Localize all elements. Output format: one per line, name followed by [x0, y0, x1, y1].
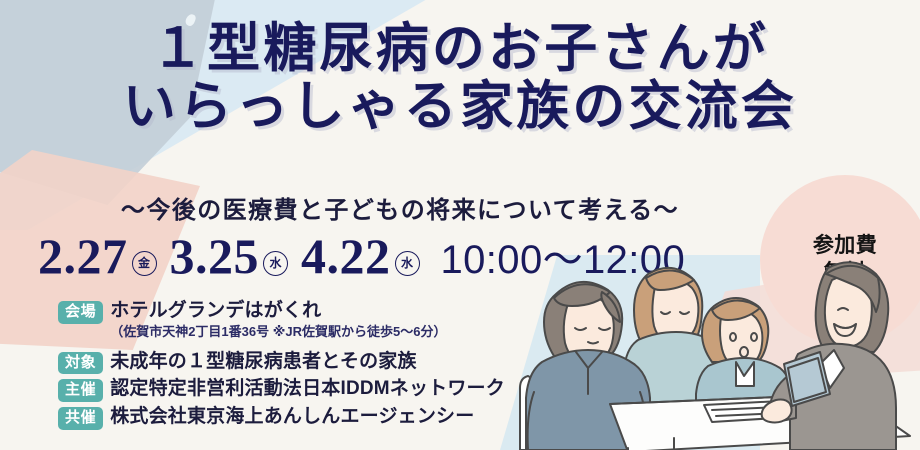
flyer-banner: １型糖尿病のお子さんが いらっしゃる家族の交流会 〜今後の医療費と子どもの将来に… [0, 0, 920, 450]
venue-block: ホテルグランデはがくれ （佐賀市天神2丁目1番36号 ※JR佐賀駅から徒歩5〜6… [110, 299, 446, 341]
cohost-text: 株式会社東京海上あんしんエージェンシー [110, 405, 474, 429]
tag-target: 対象 [58, 352, 103, 375]
date-1: 2.27 [38, 231, 128, 281]
title-line-2: いらっしゃる家族の交流会 [0, 80, 920, 134]
tag-organizer: 主催 [58, 379, 103, 402]
tag-cohost: 共催 [58, 407, 103, 430]
date-3: 4.22 [301, 231, 391, 281]
date-2-dow: 水 [263, 251, 288, 276]
date-3-dow: 水 [395, 251, 420, 276]
date-1-dow: 金 [132, 251, 157, 276]
tag-venue: 会場 [58, 301, 103, 324]
family-consultation-illustration: .ln{fill:none;stroke:#4a4a4a;stroke-widt… [498, 258, 920, 450]
target-text: 未成年の１型糖尿病患者とその家族 [110, 350, 416, 374]
title-line-1: １型糖尿病のお子さんが [0, 22, 920, 76]
venue-name: ホテルグランデはがくれ [110, 300, 321, 321]
flyer-subtitle: 〜今後の医療費と子どもの将来について考える〜 [0, 190, 800, 225]
badge-line-1: 参加費 [813, 233, 877, 260]
venue-address: （佐賀市天神2丁目1番36号 ※JR佐賀駅から徒歩5〜6分） [110, 324, 446, 341]
flyer-title: １型糖尿病のお子さんが いらっしゃる家族の交流会 [0, 22, 920, 134]
organizer-text: 認定特定非営利活動法日本IDDMネットワーク [110, 377, 505, 401]
date-2: 3.25 [170, 231, 260, 281]
